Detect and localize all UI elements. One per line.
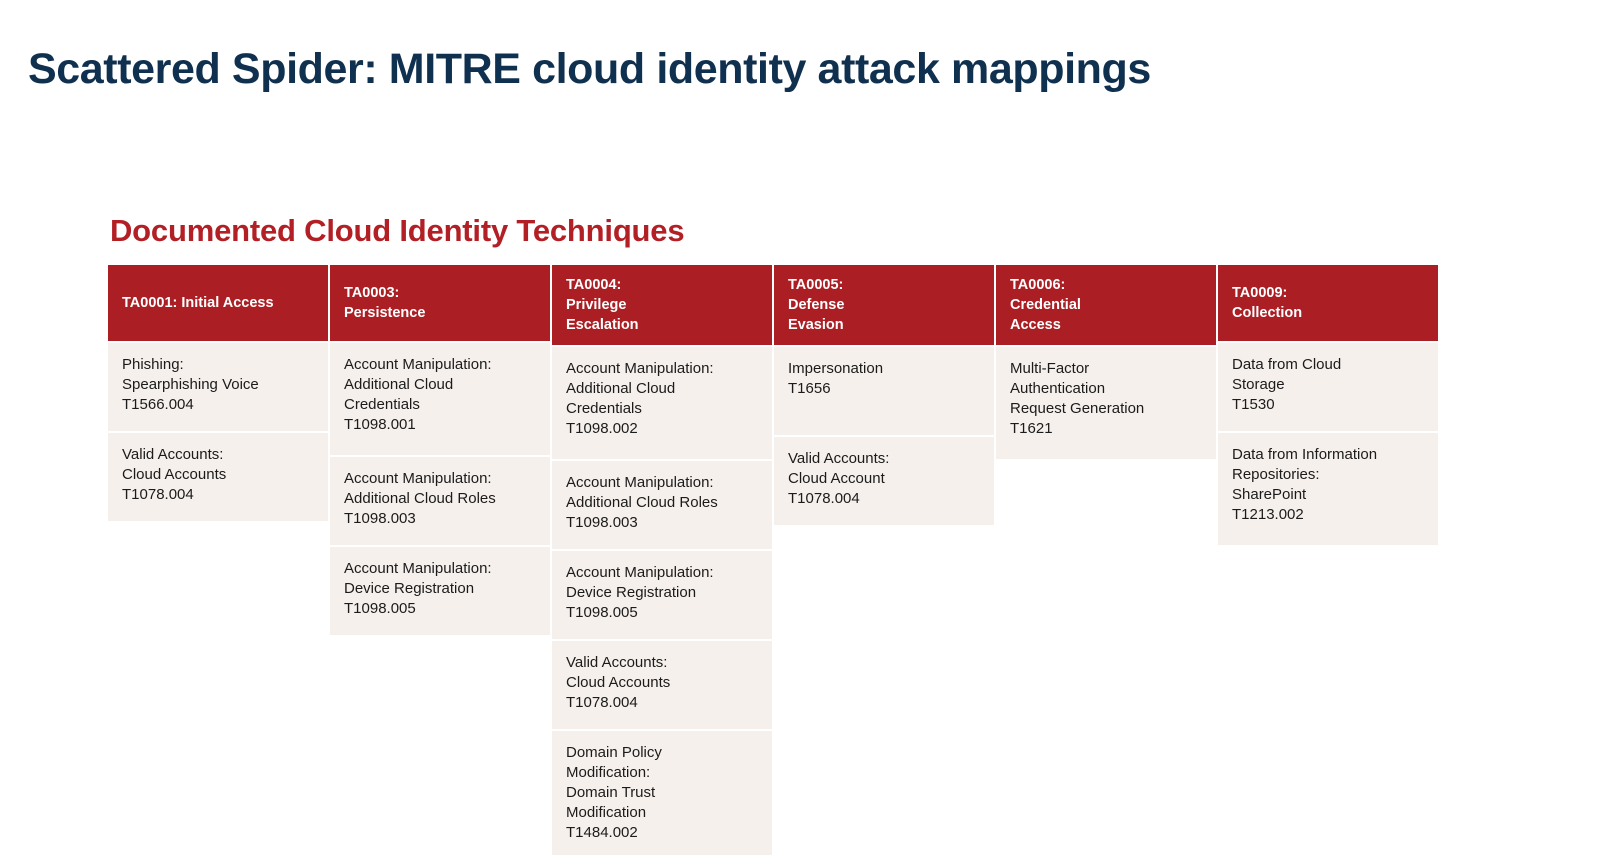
- column-header-line: Escalation: [566, 315, 758, 335]
- technique-cell[interactable]: Account Manipulation:Device Registration…: [330, 547, 550, 635]
- technique-name-line: SharePoint: [1232, 485, 1424, 505]
- technique-cell[interactable]: Account Manipulation:Device Registration…: [552, 551, 772, 639]
- mitre-attack-matrix: TA0001: Initial AccessPhishing:Spearphis…: [108, 265, 1436, 855]
- technique-cell[interactable]: Account Manipulation:Additional Cloud Ro…: [330, 457, 550, 545]
- technique-cell[interactable]: Data from CloudStorageT1530: [1218, 343, 1438, 431]
- column-header-line: TA0009:: [1232, 283, 1424, 303]
- technique-name-line: Cloud Accounts: [566, 673, 758, 693]
- technique-name-line: Cloud Account: [788, 469, 980, 489]
- column-header-line: Credential: [1010, 295, 1202, 315]
- technique-cell[interactable]: Account Manipulation:Additional CloudCre…: [330, 343, 550, 455]
- technique-name-line: Domain Trust: [566, 783, 758, 803]
- technique-name-line: Multi-Factor: [1010, 359, 1202, 379]
- technique-name-line: Domain Policy: [566, 743, 758, 763]
- column-header-line: Persistence: [344, 303, 536, 323]
- technique-name-line: Repositories:: [1232, 465, 1424, 485]
- technique-id: T1566.004: [122, 395, 314, 415]
- matrix-column-ta0006: TA0006:CredentialAccessMulti-FactorAuthe…: [996, 265, 1216, 459]
- technique-id: T1098.002: [566, 419, 758, 439]
- technique-name-line: Impersonation: [788, 359, 980, 379]
- column-header-line: Access: [1010, 315, 1202, 335]
- column-header-line: TA0006:: [1010, 275, 1202, 295]
- column-header-line: TA0004:: [566, 275, 758, 295]
- page-title: Scattered Spider: MITRE cloud identity a…: [28, 45, 1568, 94]
- technique-name-line: Valid Accounts:: [788, 449, 980, 469]
- matrix-column-ta0001: TA0001: Initial AccessPhishing:Spearphis…: [108, 265, 328, 521]
- matrix-column-ta0004: TA0004:PrivilegeEscalationAccount Manipu…: [552, 265, 772, 855]
- technique-name-line: Storage: [1232, 375, 1424, 395]
- technique-name-line: Request Generation: [1010, 399, 1202, 419]
- technique-id: T1078.004: [788, 489, 980, 509]
- technique-id: T1213.002: [1232, 505, 1424, 525]
- technique-name-line: Phishing:: [122, 355, 314, 375]
- column-header-line: TA0003:: [344, 283, 536, 303]
- column-header-ta0006[interactable]: TA0006:CredentialAccess: [996, 265, 1216, 345]
- technique-name-line: Additional Cloud: [344, 375, 536, 395]
- column-header-ta0009[interactable]: TA0009:Collection: [1218, 265, 1438, 341]
- technique-cell[interactable]: Phishing:Spearphishing VoiceT1566.004: [108, 343, 328, 431]
- technique-name-line: Device Registration: [344, 579, 536, 599]
- technique-name-line: Valid Accounts:: [566, 653, 758, 673]
- technique-id: T1484.002: [566, 823, 758, 843]
- technique-cell[interactable]: Domain PolicyModification:Domain TrustMo…: [552, 731, 772, 855]
- technique-name-line: Spearphishing Voice: [122, 375, 314, 395]
- column-header-line: Evasion: [788, 315, 980, 335]
- technique-name-line: Additional Cloud Roles: [566, 493, 758, 513]
- technique-id: T1530: [1232, 395, 1424, 415]
- technique-cell[interactable]: Data from InformationRepositories:ShareP…: [1218, 433, 1438, 545]
- technique-name-line: Device Registration: [566, 583, 758, 603]
- column-header-ta0001[interactable]: TA0001: Initial Access: [108, 265, 328, 341]
- technique-name-line: Data from Cloud: [1232, 355, 1424, 375]
- technique-cell[interactable]: ImpersonationT1656: [774, 347, 994, 435]
- technique-id: T1098.001: [344, 415, 536, 435]
- technique-cell[interactable]: Valid Accounts:Cloud AccountT1078.004: [774, 437, 994, 525]
- technique-id: T1098.005: [566, 603, 758, 623]
- slide-root: Scattered Spider: MITRE cloud identity a…: [0, 0, 1600, 855]
- matrix-column-ta0009: TA0009:CollectionData from CloudStorageT…: [1218, 265, 1438, 545]
- column-header-ta0005[interactable]: TA0005:DefenseEvasion: [774, 265, 994, 345]
- technique-name-line: Account Manipulation:: [344, 469, 536, 489]
- section-heading: Documented Cloud Identity Techniques: [110, 212, 684, 249]
- technique-name-line: Additional Cloud Roles: [344, 489, 536, 509]
- column-header-line: Collection: [1232, 303, 1424, 323]
- matrix-column-ta0005: TA0005:DefenseEvasionImpersonationT1656V…: [774, 265, 994, 525]
- technique-name-line: Credentials: [566, 399, 758, 419]
- technique-name-line: Account Manipulation:: [566, 473, 758, 493]
- technique-cell[interactable]: Account Manipulation:Additional Cloud Ro…: [552, 461, 772, 549]
- technique-name-line: Account Manipulation:: [566, 359, 758, 379]
- technique-name-line: Account Manipulation:: [566, 563, 758, 583]
- column-header-line: TA0005:: [788, 275, 980, 295]
- technique-cell[interactable]: Valid Accounts:Cloud AccountsT1078.004: [552, 641, 772, 729]
- technique-name-line: Cloud Accounts: [122, 465, 314, 485]
- technique-id: T1078.004: [122, 485, 314, 505]
- column-header-line: Privilege: [566, 295, 758, 315]
- technique-id: T1098.003: [344, 509, 536, 529]
- technique-id: T1078.004: [566, 693, 758, 713]
- technique-name-line: Authentication: [1010, 379, 1202, 399]
- technique-cell[interactable]: Valid Accounts:Cloud AccountsT1078.004: [108, 433, 328, 521]
- technique-id: T1621: [1010, 419, 1202, 439]
- column-header-line: Defense: [788, 295, 980, 315]
- technique-name-line: Credentials: [344, 395, 536, 415]
- technique-name-line: Account Manipulation:: [344, 355, 536, 375]
- technique-id: T1656: [788, 379, 980, 399]
- technique-cell[interactable]: Account Manipulation:Additional CloudCre…: [552, 347, 772, 459]
- technique-name-line: Data from Information: [1232, 445, 1424, 465]
- matrix-column-ta0003: TA0003:PersistenceAccount Manipulation:A…: [330, 265, 550, 635]
- technique-name-line: Additional Cloud: [566, 379, 758, 399]
- technique-id: T1098.003: [566, 513, 758, 533]
- technique-cell[interactable]: Multi-FactorAuthenticationRequest Genera…: [996, 347, 1216, 459]
- technique-name-line: Valid Accounts:: [122, 445, 314, 465]
- technique-id: T1098.005: [344, 599, 536, 619]
- column-header-line: TA0001: Initial Access: [122, 293, 314, 313]
- column-header-ta0004[interactable]: TA0004:PrivilegeEscalation: [552, 265, 772, 345]
- column-header-ta0003[interactable]: TA0003:Persistence: [330, 265, 550, 341]
- technique-name-line: Modification: [566, 803, 758, 823]
- technique-name-line: Account Manipulation:: [344, 559, 536, 579]
- technique-name-line: Modification:: [566, 763, 758, 783]
